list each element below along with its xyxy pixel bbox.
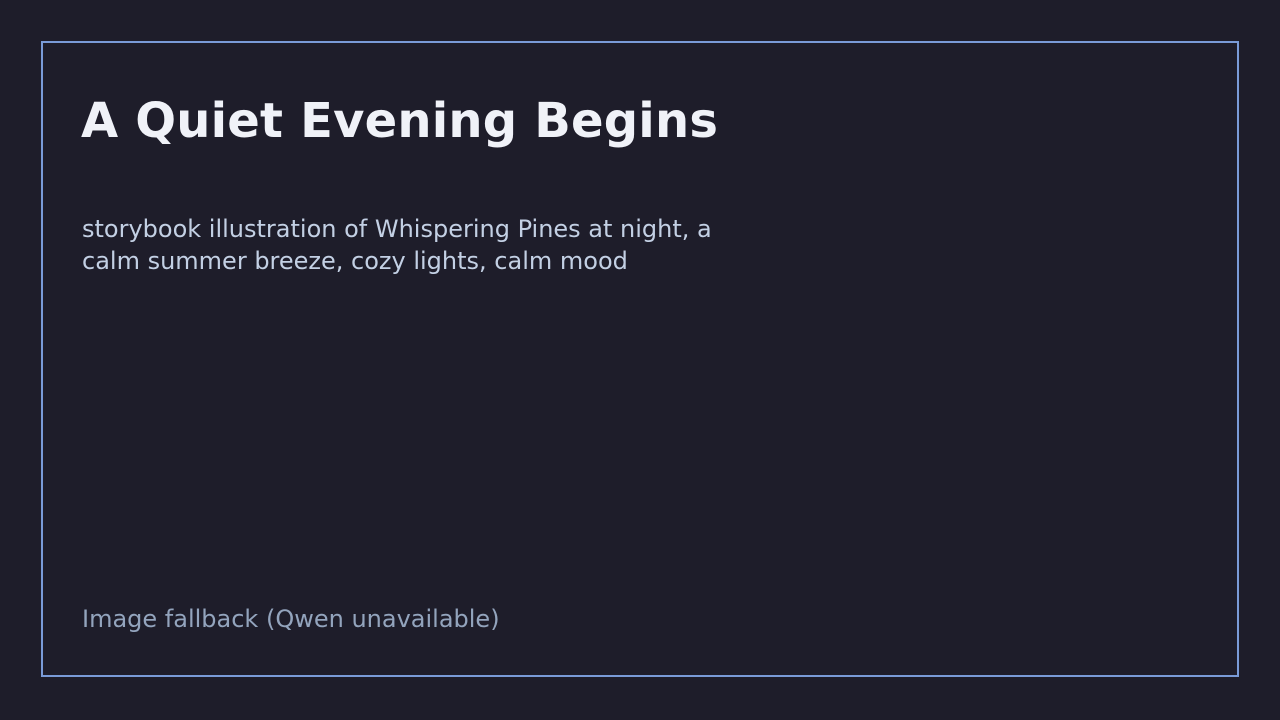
prompt-line-2: calm summer breeze, cozy lights, calm mo… [82,245,902,277]
prompt-line-1: storybook illustration of Whispering Pin… [82,213,902,245]
prompt-text: storybook illustration of Whispering Pin… [82,213,902,277]
fallback-status-text: Image fallback (Qwen unavailable) [82,603,500,635]
page-title: A Quiet Evening Begins [81,93,718,149]
card-inner: A Quiet Evening Begins storybook illustr… [43,43,1237,675]
image-placeholder-area [82,293,1198,593]
image-fallback-card: A Quiet Evening Begins storybook illustr… [41,41,1239,677]
